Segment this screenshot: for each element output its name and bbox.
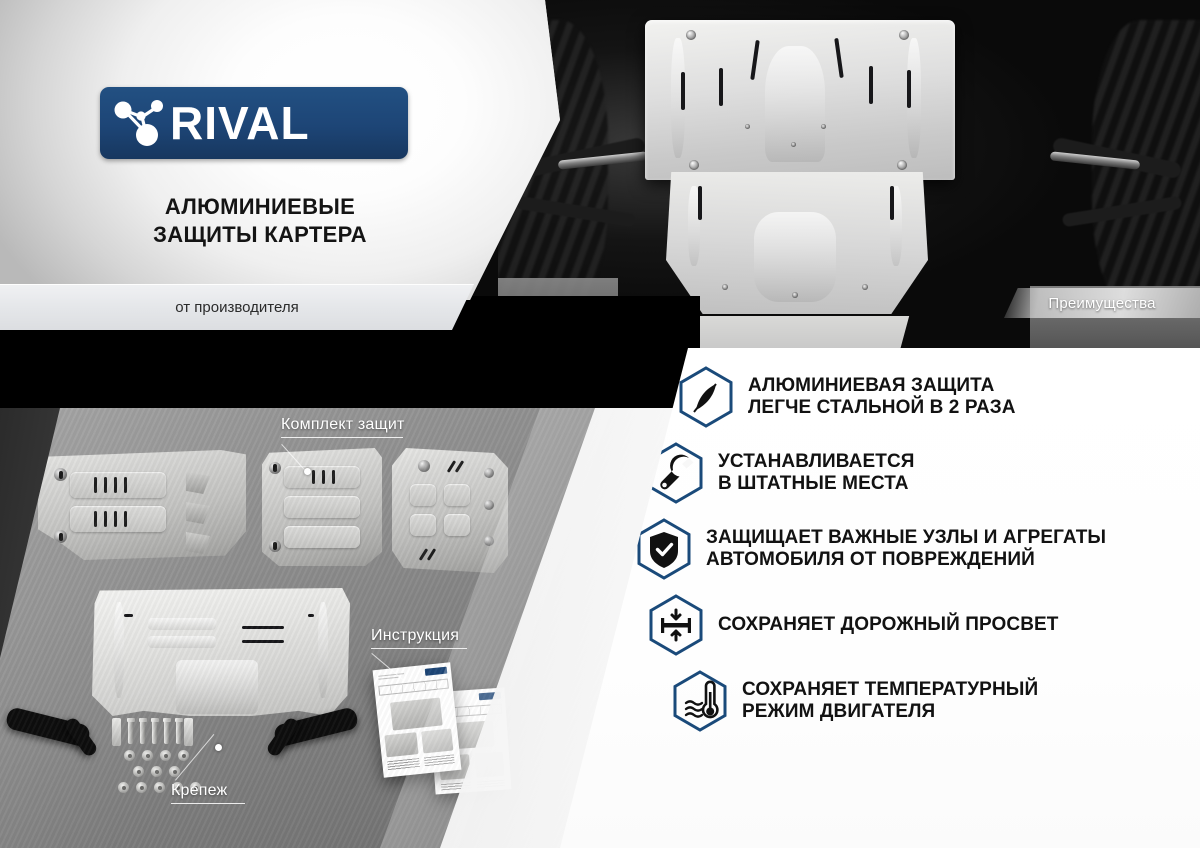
advantage-text-install: УСТАНАВЛИВАЕТСЯ В ШТАТНЫЕ МЕСТА <box>718 451 915 495</box>
clearance-icon <box>648 594 704 656</box>
skid-plate-2 <box>262 448 382 566</box>
advantage-line2: РЕЖИМ ДВИГАТЕЛЯ <box>742 701 1038 723</box>
bolt-4 <box>164 718 169 744</box>
advantage-text-protection: ЗАЩИЩАЕТ ВАЖНЫЕ УЗЛЫ И АГРЕГАТЫ АВТОМОБИ… <box>706 527 1106 571</box>
advantage-line1: ЗАЩИЩАЕТ ВАЖНЫЕ УЗЛЫ И АГРЕГАТЫ <box>706 527 1106 549</box>
advantage-item-install: УСТАНАВЛИВАЕТСЯ В ШТАТНЫЕ МЕСТА <box>648 442 1198 504</box>
page-title-line2: ЗАЩИТЫ КАРТЕРА <box>100 221 420 249</box>
callout-instruction-label: Инструкция <box>371 627 459 644</box>
washer-6 <box>151 766 162 777</box>
washer-4 <box>178 750 189 761</box>
callout-kit: Комплект защит <box>281 416 405 438</box>
subtitle-strip: от производителя <box>0 284 474 330</box>
bolt-5 <box>176 718 181 744</box>
engine-skid-plate <box>645 20 955 180</box>
callout-instruction: Инструкция <box>371 627 467 649</box>
advantage-line2: АВТОМОБИЛЯ ОТ ПОВРЕЖДЕНИЙ <box>706 549 1106 571</box>
advantage-line1: СОХРАНЯЕТ ДОРОЖНЫЙ ПРОСВЕТ <box>718 614 1059 636</box>
subtitle-text: от производителя <box>175 299 298 316</box>
washer-8 <box>118 782 129 793</box>
skid-plate-1 <box>38 450 246 560</box>
advantages-ribbon: Преимущества <box>1004 288 1200 318</box>
advantage-line2: В ШТАТНЫЕ МЕСТА <box>718 473 915 495</box>
page-title-line1: АЛЮМИНИЕВЫЕ <box>100 193 420 221</box>
rival-logo: RIVAL <box>100 87 408 159</box>
advantage-item-protection: ЗАЩИЩАЕТ ВАЖНЫЕ УЗЛЫ И АГРЕГАТЫ АВТОМОБИ… <box>636 518 1198 580</box>
shield-check-icon <box>636 518 692 580</box>
callout-hardware-label: Крепеж <box>171 782 227 799</box>
callout-hardware-dot <box>215 744 222 751</box>
advantage-item-clearance: СОХРАНЯЕТ ДОРОЖНЫЙ ПРОСВЕТ <box>648 594 1198 656</box>
bolt-2 <box>140 718 145 744</box>
advantages-list: АЛЮМИНИЕВАЯ ЗАЩИТА ЛЕГЧЕ СТАЛЬНОЙ В 2 РА… <box>678 366 1198 746</box>
spacer-strip-left <box>112 718 121 746</box>
callout-kit-dot <box>304 468 311 475</box>
gearbox-skid-plate <box>666 172 928 314</box>
advantage-line1: УСТАНАВЛИВАЕТСЯ <box>718 451 915 473</box>
page-title: АЛЮМИНИЕВЫЕ ЗАЩИТЫ КАРТЕРА <box>100 193 420 249</box>
promo-banner: Преимущества RIVAL АЛЮМИНИЕВЫЕ ЗАЩИТЫ <box>0 0 1200 848</box>
advantage-item-temperature: СОХРАНЯЕТ ТЕМПЕРАТУРНЫЙ РЕЖИМ ДВИГАТЕЛЯ <box>672 670 1198 732</box>
bolt-1 <box>128 718 133 744</box>
skid-plate-large <box>92 588 350 716</box>
advantages-ribbon-label: Преимущества <box>1048 295 1155 312</box>
advantage-text-temperature: СОХРАНЯЕТ ТЕМПЕРАТУРНЫЙ РЕЖИМ ДВИГАТЕЛЯ <box>742 679 1038 723</box>
washer-2 <box>142 750 153 761</box>
advantage-line2: ЛЕГЧЕ СТАЛЬНОЙ В 2 РАЗА <box>748 397 1016 419</box>
logo-wordmark: RIVAL <box>170 100 310 146</box>
thermometer-icon <box>672 670 728 732</box>
advantage-line1: АЛЮМИНИЕВАЯ ЗАЩИТА <box>748 375 1016 397</box>
washer-9 <box>136 782 147 793</box>
washer-1 <box>124 750 135 761</box>
advantage-text-weight: АЛЮМИНИЕВАЯ ЗАЩИТА ЛЕГЧЕ СТАЛЬНОЙ В 2 РА… <box>748 375 1016 419</box>
sheet-photo-front-1 <box>384 732 418 757</box>
bolt-3 <box>152 718 157 744</box>
advantage-line1: СОХРАНЯЕТ ТЕМПЕРАТУРНЫЙ <box>742 679 1038 701</box>
advantage-text-clearance: СОХРАНЯЕТ ДОРОЖНЫЙ ПРОСВЕТ <box>718 614 1059 636</box>
advantage-item-weight: АЛЮМИНИЕВАЯ ЗАЩИТА ЛЕГЧЕ СТАЛЬНОЙ В 2 РА… <box>678 366 1198 428</box>
spacer-strip-right <box>184 718 193 746</box>
molecule-icon <box>110 93 172 153</box>
washer-5 <box>133 766 144 777</box>
washer-10 <box>154 782 165 793</box>
feather-icon <box>678 366 734 428</box>
washer-3 <box>160 750 171 761</box>
callout-kit-label: Комплект защит <box>281 416 405 433</box>
callout-hardware: Крепеж <box>171 782 245 804</box>
